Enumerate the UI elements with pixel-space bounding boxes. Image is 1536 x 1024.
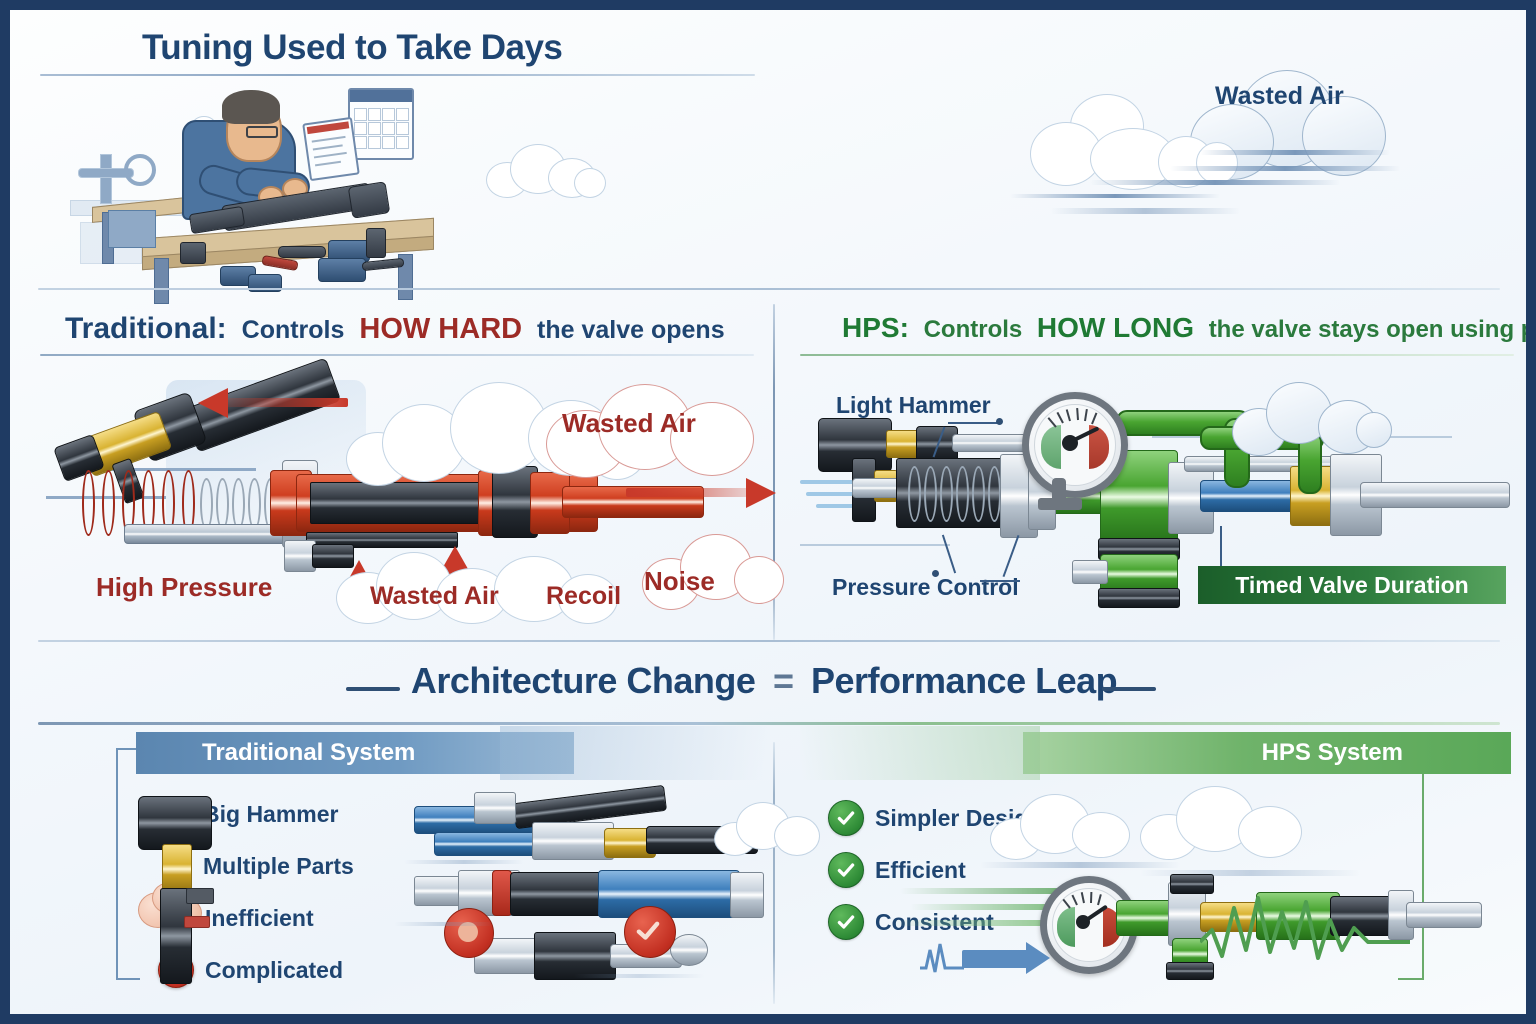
architecture-title: Architecture Change = Performance Leap (10, 660, 1526, 702)
hps-heading-mid: Controls (924, 316, 1023, 343)
section-mechanism-comparison: Traditional: Controls HOW HARD the valve… (10, 290, 1526, 642)
section-tuning-takes-days: Tuning Used to Take Days (10, 10, 1526, 290)
timed-valve-duration-label: Timed Valve Duration (1235, 572, 1468, 599)
infographic-canvas: Tuning Used to Take Days (10, 10, 1526, 1014)
title-dash-left (346, 687, 400, 691)
traditional-system-label: Traditional System (202, 739, 415, 767)
arrow-icon-left (198, 388, 348, 418)
cloud-icon-hps (1232, 380, 1392, 456)
green-check-icon (828, 800, 864, 836)
traditional-parts-pile (414, 788, 764, 988)
hps-heading-suffix: the valve stays open using pressure (1209, 316, 1526, 343)
bottom-panel-divider (773, 742, 775, 1004)
architecture-title-part2: Performance Leap (811, 660, 1117, 701)
traditional-bracket (116, 748, 140, 980)
hps-system-label: HPS System (1262, 739, 1403, 767)
traditional-heading-rule (40, 354, 754, 356)
calendar-icon (348, 88, 414, 160)
callout-light-hammer: Light Hammer (836, 392, 991, 419)
architecture-title-part1: Architecture Change (411, 660, 756, 701)
label-high-pressure: High Pressure (96, 572, 272, 603)
architecture-rule (38, 722, 1500, 725)
spring-coil-icon (80, 470, 200, 532)
traditional-heading-mid: Controls (242, 316, 345, 344)
title-underline (40, 74, 755, 76)
label-noise: Noise (644, 566, 715, 597)
label-wasted-air-upper: Wasted Air (562, 408, 696, 439)
title-dash-right (1102, 687, 1156, 691)
traditional-heading: Traditional: Controls HOW HARD the valve… (65, 312, 733, 346)
hps-output-waveform (1200, 890, 1410, 970)
cloud-icon (486, 138, 606, 198)
wasted-air-label-top: Wasted Air (1215, 82, 1344, 111)
hps-heading-rule (800, 354, 1514, 356)
traditional-heading-prefix: Traditional: (65, 312, 227, 345)
tag-sweep-left (500, 726, 770, 780)
traditional-heading-emphasis: HOW HARD (359, 313, 522, 345)
hps-heading-prefix: HPS: (842, 312, 909, 343)
label-recoil: Recoil (546, 582, 621, 611)
waveform-icon-blue (920, 938, 964, 980)
tag-sweep-right (800, 726, 1040, 780)
hps-mechanism-diagram: Light Hammer Pressure Control Timed Valv… (800, 374, 1514, 624)
timed-valve-duration-banner: Timed Valve Duration (1198, 566, 1506, 604)
architecture-title-equals: = (773, 660, 794, 701)
hps-system-tag: HPS System (1023, 732, 1511, 774)
green-check-icon (828, 904, 864, 940)
arrow-icon-right (626, 478, 776, 508)
hps-heading: HPS: Controls HOW LONG the valve stays o… (842, 312, 1526, 344)
notepad (302, 117, 360, 181)
callout-pressure-control: Pressure Control (832, 574, 1019, 601)
page-title: Tuning Used to Take Days (142, 28, 562, 68)
waveform-icon-green (1200, 890, 1410, 970)
feature-label-efficient: Efficient (875, 857, 966, 884)
big-hammer-graphic (138, 796, 238, 986)
traditional-mechanism-diagram: Wasted Air High Pressure Wasted Air Reco… (46, 374, 766, 624)
label-wasted-air-lower: Wasted Air (370, 582, 499, 611)
red-check-icon-pile (634, 918, 662, 944)
hps-heading-emphasis: HOW LONG (1037, 312, 1194, 343)
pressure-gauge-icon (1022, 392, 1128, 498)
traditional-heading-suffix: the valve opens (537, 316, 725, 344)
green-check-icon (828, 852, 864, 888)
